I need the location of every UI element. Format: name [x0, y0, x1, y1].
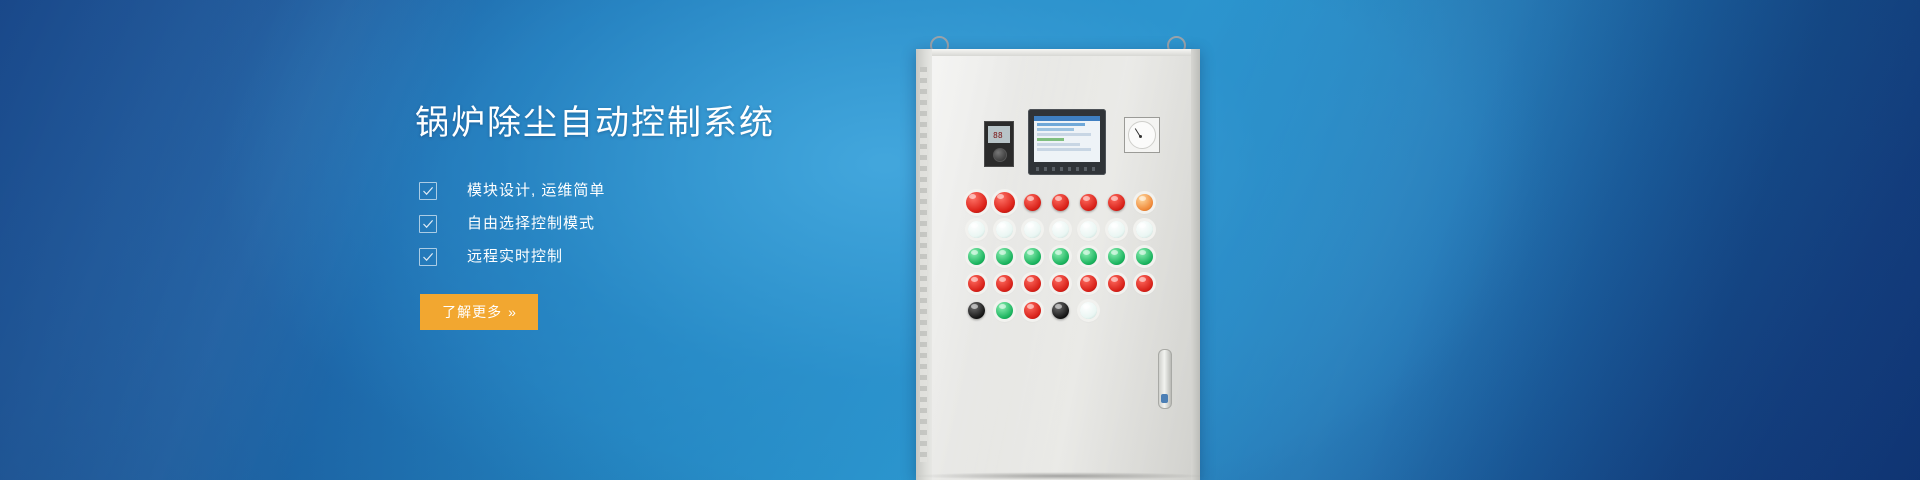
emergency-stop-button[interactable] — [994, 192, 1015, 213]
push-button-black[interactable] — [968, 302, 985, 319]
indicator-lamp-white[interactable] — [1052, 221, 1069, 238]
digital-meter: 88 — [984, 121, 1014, 167]
indicator-lamp-red[interactable] — [1024, 194, 1041, 211]
push-button-red[interactable] — [1024, 302, 1041, 319]
digital-meter-value: 88 — [993, 131, 1003, 140]
indicator-lamp-red[interactable] — [1108, 275, 1125, 292]
feature-item: 自由选择控制模式 — [415, 207, 975, 240]
indicator-lamp-amber[interactable] — [1136, 194, 1153, 211]
hero-banner: 锅炉除尘自动控制系统 模块设计, 运维简单 自由选择控制模式 远程实时控制 — [0, 0, 1920, 480]
hmi-button-strip — [1036, 167, 1098, 171]
selector-knob-icon — [993, 148, 1007, 162]
push-button-black[interactable] — [1052, 302, 1069, 319]
learn-more-button[interactable]: 了解更多 » — [420, 294, 538, 330]
indicator-lamp-green[interactable] — [968, 248, 985, 265]
lamp-row — [962, 243, 1162, 270]
indicator-lamp-white[interactable] — [1080, 221, 1097, 238]
door-handle[interactable] — [1158, 349, 1172, 409]
indicator-lamp-red[interactable] — [1052, 194, 1069, 211]
indicator-lamp-green[interactable] — [1136, 248, 1153, 265]
hmi-row — [1037, 123, 1085, 126]
checkbox-check-icon — [419, 182, 437, 200]
learn-more-label: 了解更多 — [442, 302, 502, 322]
indicator-lamp-red[interactable] — [1108, 194, 1125, 211]
indicator-lamp-red[interactable] — [1136, 275, 1153, 292]
checkbox-check-icon — [419, 248, 437, 266]
hmi-content-rows — [1034, 121, 1100, 155]
emergency-stop-button[interactable] — [966, 192, 987, 213]
indicator-lamp-red[interactable] — [1024, 275, 1041, 292]
indicator-lamp-green[interactable] — [1052, 248, 1069, 265]
indicator-lamp-green[interactable] — [1024, 248, 1041, 265]
gauge-hub — [1139, 135, 1142, 138]
feature-label: 远程实时控制 — [467, 249, 563, 265]
indicator-lamp-white[interactable] — [1136, 221, 1153, 238]
page-title: 锅炉除尘自动控制系统 — [415, 102, 975, 144]
door-lock-icon — [1161, 394, 1168, 403]
lamp-row — [962, 216, 1162, 243]
indicator-lamp-green[interactable] — [996, 248, 1013, 265]
feature-label: 模块设计, 运维简单 — [467, 183, 605, 199]
chevron-right-double-icon: » — [508, 305, 516, 319]
indicator-lamp-white[interactable] — [1108, 221, 1125, 238]
indicator-lamp-red[interactable] — [996, 275, 1013, 292]
lamp-row — [962, 270, 1162, 297]
indicator-lamp-red[interactable] — [1080, 194, 1097, 211]
cabinet-hinge-strip — [920, 67, 927, 462]
indicator-lamp-red[interactable] — [1080, 275, 1097, 292]
hmi-row — [1037, 148, 1091, 151]
checkbox-check-icon — [419, 215, 437, 233]
analog-gauge — [1124, 117, 1160, 153]
hmi-row — [1037, 128, 1074, 131]
indicator-lamp-red[interactable] — [1052, 275, 1069, 292]
indicator-lamp-green[interactable] — [1080, 248, 1097, 265]
feature-item: 模块设计, 运维简单 — [415, 174, 975, 207]
indicator-lamp-red[interactable] — [968, 275, 985, 292]
control-cabinet-image: 88 — [908, 36, 1208, 480]
hero-copy-block: 锅炉除尘自动控制系统 模块设计, 运维简单 自由选择控制模式 远程实时控制 — [415, 102, 975, 273]
gauge-face — [1128, 121, 1156, 149]
indicator-lamp-green[interactable] — [1108, 248, 1125, 265]
feature-list: 模块设计, 运维简单 自由选择控制模式 远程实时控制 — [415, 174, 975, 273]
hmi-touch-panel — [1028, 109, 1106, 175]
cabinet-top-edge — [916, 49, 1200, 56]
digital-meter-screen: 88 — [988, 126, 1010, 143]
push-button-white[interactable] — [1080, 302, 1097, 319]
lamp-row — [962, 297, 1162, 324]
feature-label: 自由选择控制模式 — [467, 216, 595, 232]
hmi-row — [1037, 138, 1064, 141]
feature-item: 远程实时控制 — [415, 240, 975, 273]
push-button-green[interactable] — [996, 302, 1013, 319]
hmi-screen — [1034, 116, 1100, 162]
cabinet-ground-shadow — [912, 472, 1208, 480]
indicator-lamp-grid — [962, 189, 1162, 324]
indicator-lamp-white[interactable] — [1024, 221, 1041, 238]
cabinet-right-edge — [1191, 49, 1200, 480]
indicator-lamp-white[interactable] — [968, 221, 985, 238]
indicator-lamp-white[interactable] — [996, 221, 1013, 238]
hmi-row — [1037, 133, 1091, 136]
lamp-row — [962, 189, 1162, 216]
cabinet-body: 88 — [916, 49, 1200, 480]
hmi-row — [1037, 143, 1080, 146]
